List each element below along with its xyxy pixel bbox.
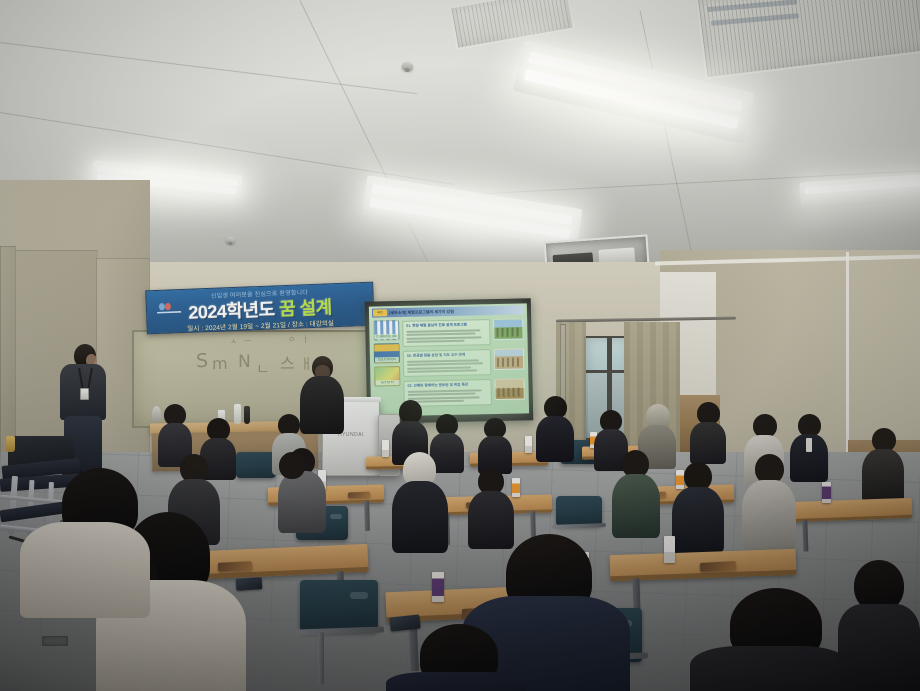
slide-header-bar: 섹션 [세부소개] 체험프로그램의 세가지 강점 xyxy=(372,305,524,317)
attendee xyxy=(270,452,314,514)
wall-corner-trim xyxy=(846,252,849,472)
attendee-foreground-farright xyxy=(838,560,920,691)
fire-sprinkler-head xyxy=(226,236,236,244)
event-banner: 신입생 여러분을 진심으로 환영합니다 2024학년도 꿈 설계 일시 : 20… xyxy=(145,282,375,335)
attendee-foreground-farleft xyxy=(20,468,150,608)
snack-bar xyxy=(700,561,736,572)
milk-carton xyxy=(382,440,389,457)
slide-icon-label: EDUCATION xyxy=(375,357,399,363)
banner-accent: 꿈 설계 xyxy=(279,297,332,319)
attendee xyxy=(478,418,512,470)
slide-icon-label: ACTIVITY xyxy=(375,380,399,386)
staff-name-badge xyxy=(80,388,89,400)
milk-carton xyxy=(664,536,675,563)
school-emblem-icon xyxy=(155,300,186,317)
left-wall-panel xyxy=(0,246,16,466)
slide-icon-block: EDUCATION xyxy=(374,343,400,364)
attendee xyxy=(690,402,726,460)
slide-text-title: 01. 현장 체험 중심의 진로 설계 프로그램 xyxy=(406,322,486,329)
attendee-hood xyxy=(392,452,448,548)
attendee xyxy=(468,468,514,544)
vent-blade xyxy=(711,13,799,26)
slide-text-block: 02. 전공별 맞춤 상담 및 지도 교수 연계 xyxy=(403,349,492,377)
slide-text-title: 02. 전공별 맞춤 상담 및 지도 교수 연계 xyxy=(407,352,487,359)
attendee xyxy=(862,428,904,498)
snack-bar xyxy=(348,492,370,499)
attendee xyxy=(612,450,660,534)
slide-photo xyxy=(494,348,524,370)
slide-icon-block: CURRICULUM xyxy=(373,320,399,341)
water-bottle xyxy=(244,406,250,424)
slide-text-block: 01. 현장 체험 중심의 진로 설계 프로그램 xyxy=(402,319,491,347)
slide-photo xyxy=(494,378,524,400)
milk-carton xyxy=(525,436,532,453)
attendee xyxy=(536,396,574,458)
projection-screen-frame: 섹션 [세부소개] 체험프로그램의 세가지 강점 CURRICULUM EDUC… xyxy=(365,298,534,423)
presenter-at-podium xyxy=(300,356,344,432)
drink-bottle xyxy=(6,436,15,452)
attendee-foreground-mid xyxy=(386,606,526,691)
slide-icon-column: CURRICULUM EDUCATION ACTIVITY xyxy=(373,320,400,390)
lecture-hall-photo: S ⅿ N ㄴ 스 ㅐ ㅅ ㅡ ㅇ ㅏ 신입생 여러분을 진심으로 환영합니다 … xyxy=(0,0,920,691)
chair[interactable] xyxy=(556,496,602,526)
slide-icon-label: CURRICULUM xyxy=(374,334,398,340)
attendee-glasses xyxy=(742,454,796,546)
chair[interactable] xyxy=(300,580,378,632)
grape-juice-carton xyxy=(822,482,831,503)
slide-photo xyxy=(493,318,523,340)
fire-sprinkler-head xyxy=(402,61,414,71)
attendee-foreground-right xyxy=(690,588,850,691)
grape-juice-carton xyxy=(432,572,444,602)
attendee xyxy=(392,400,428,460)
slide-icon-block: ACTIVITY xyxy=(374,366,400,387)
vent-blade xyxy=(707,0,797,12)
floor-drain xyxy=(42,636,68,646)
chair-leg xyxy=(318,632,324,684)
slide-header-title: [세부소개] 체험프로그램의 세가지 강점 xyxy=(389,308,454,315)
attendee xyxy=(672,462,724,548)
slide-text-title: 03. 선배와 함께하는 멘토링 및 취업 특강 xyxy=(407,382,487,389)
slide-header-badge: 섹션 xyxy=(373,309,387,316)
